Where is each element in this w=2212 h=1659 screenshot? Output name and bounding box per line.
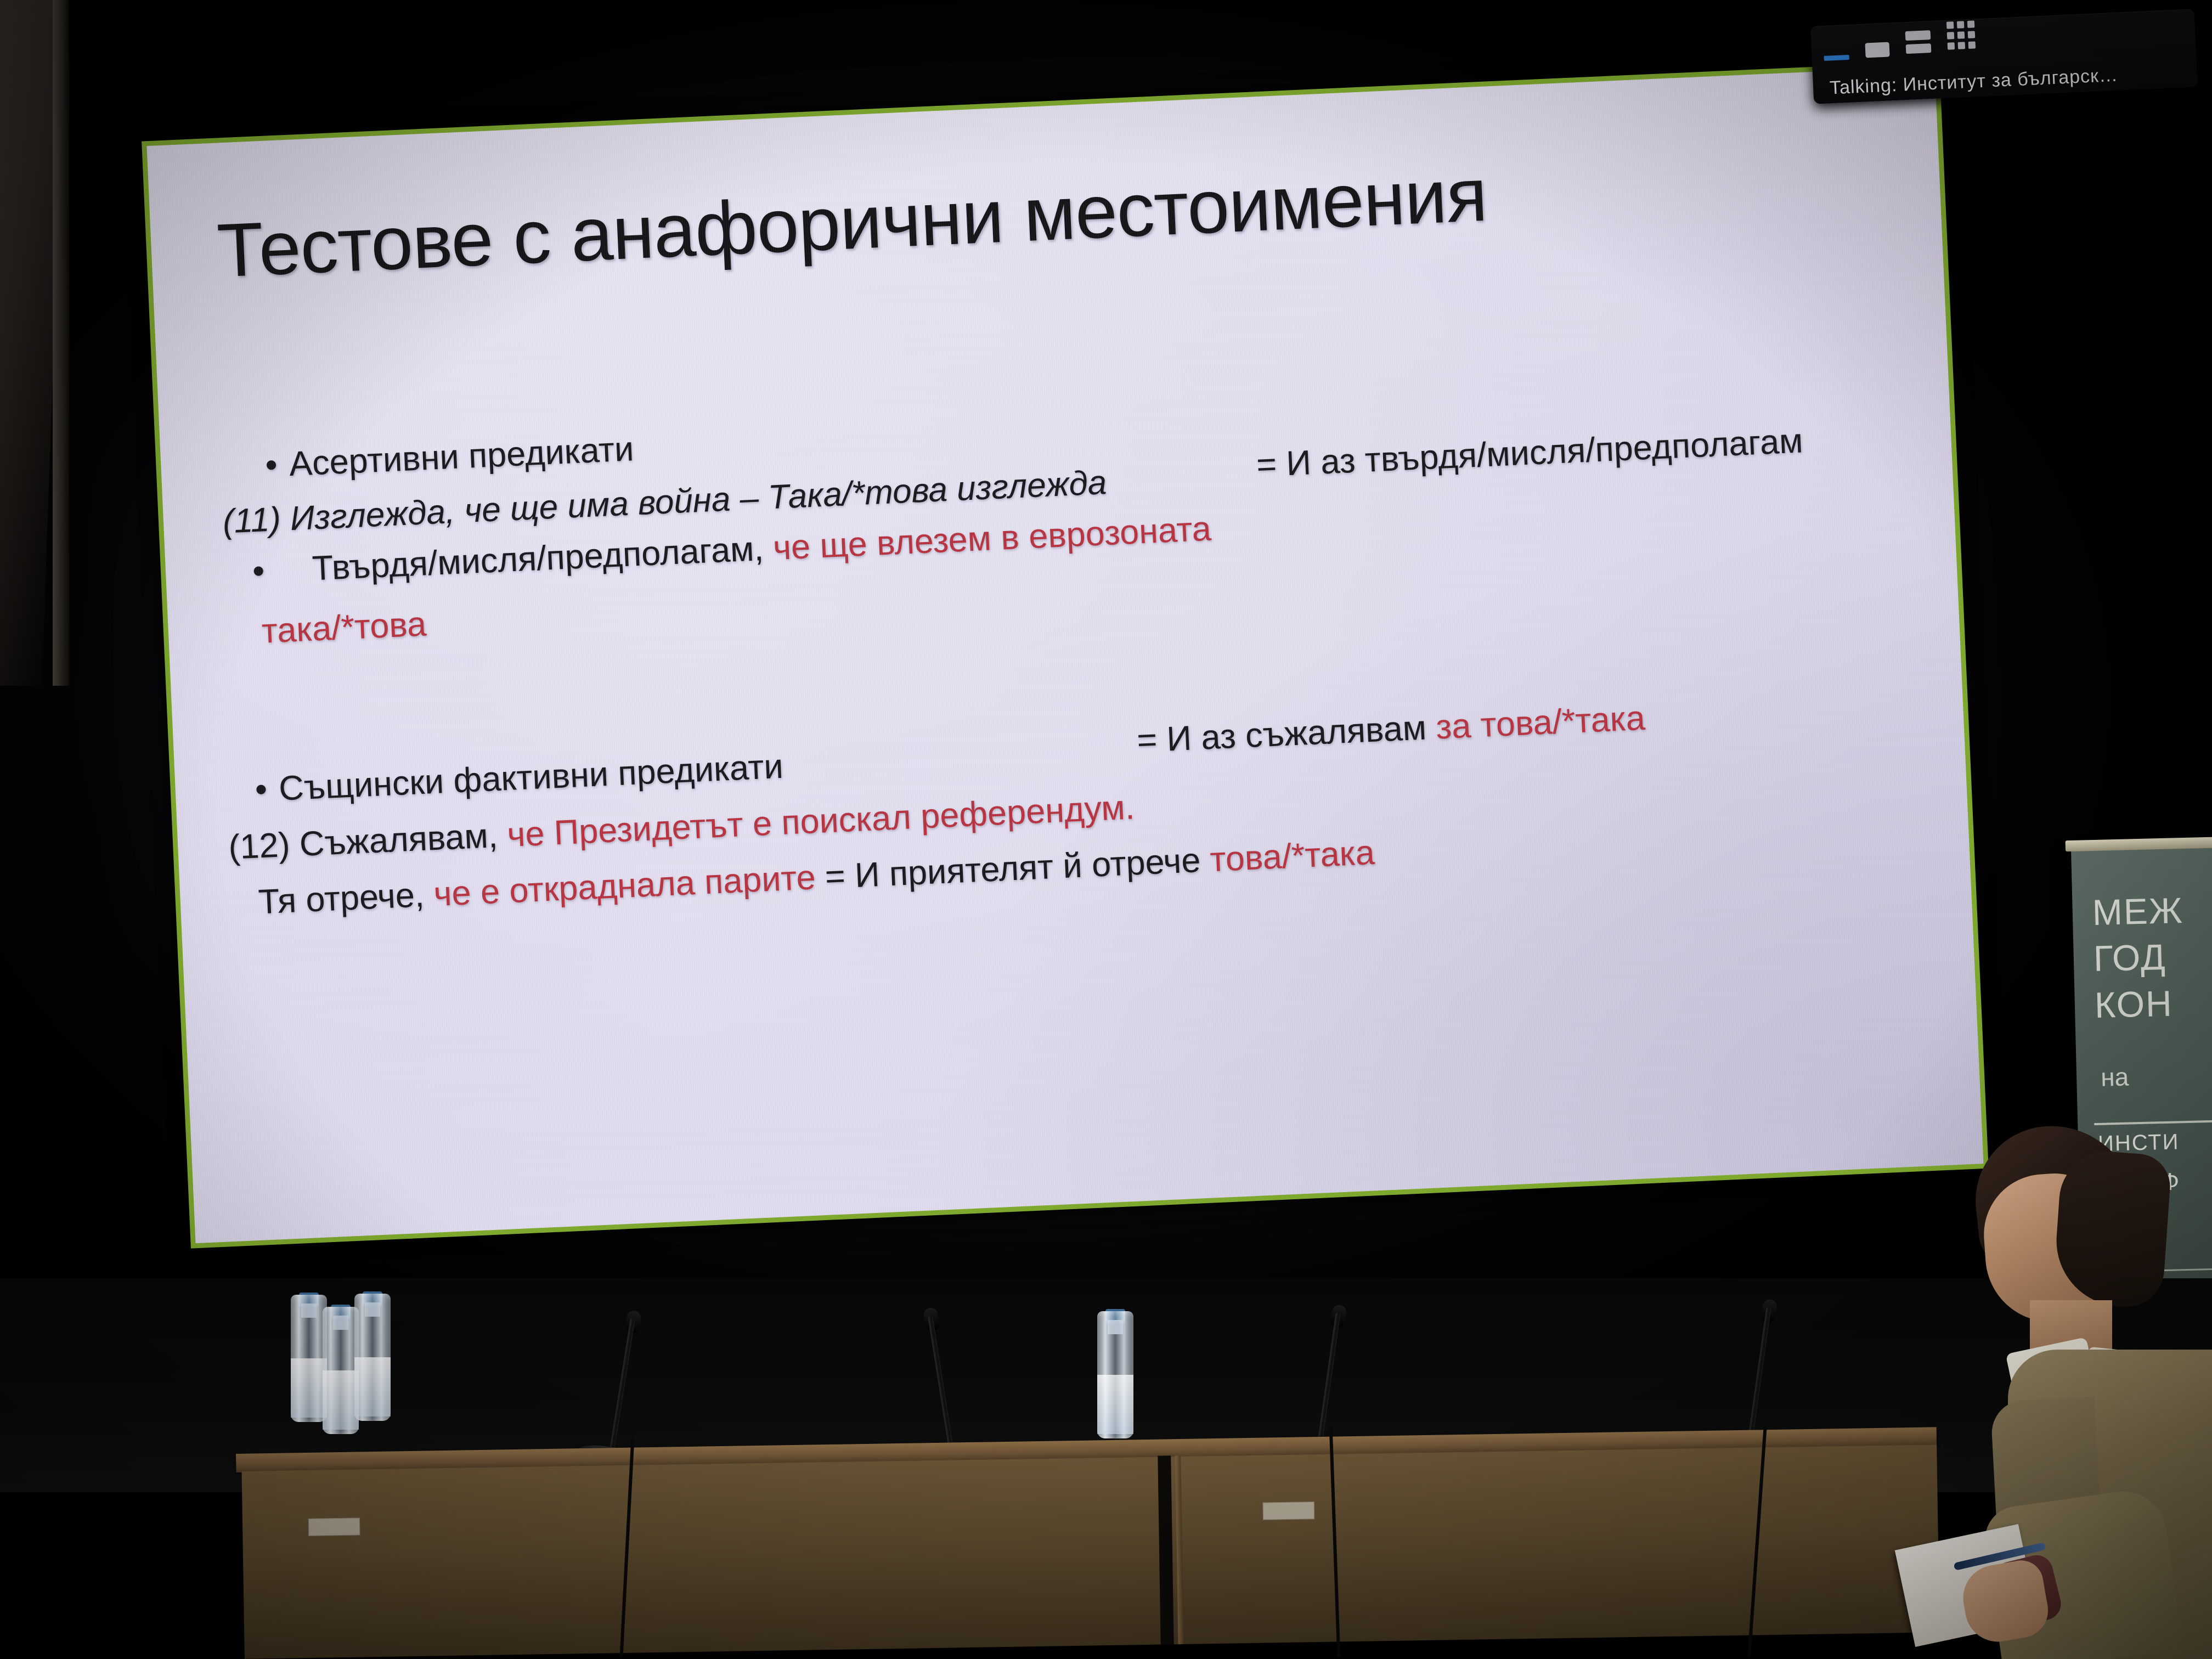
projection-screen: Тестове с анафорични местоимения • Асерт… [0, 0, 1981, 1338]
table-nameplate [1263, 1502, 1314, 1520]
seg-i-regret: (12) Съжалявам, [228, 816, 508, 867]
gallery-view-icon[interactable] [1946, 20, 1976, 49]
bullet-dot-icon: • [255, 772, 270, 807]
seg-za-tova-taka: за това/*така [1435, 699, 1646, 747]
seg-she-denied: Тя отрече, [257, 875, 435, 921]
banner-line-4: на [2101, 1062, 2129, 1092]
banner-line-2: ГОД [2093, 933, 2212, 982]
seg-taka-tova-1: така/*това [261, 607, 427, 648]
slide-surface: Тестове с анафорични местоимения • Асерт… [146, 66, 1983, 1243]
seg-and-i-regret: = И аз съжалявам [1136, 708, 1437, 760]
banner-line-3: КОН [2094, 979, 2212, 1028]
bottle-label [323, 1370, 359, 1430]
seg-stole-the-money: че е откраднала парите [433, 858, 816, 913]
side-by-side-view-icon[interactable] [1905, 30, 1932, 54]
bottle-label [354, 1357, 391, 1417]
bullet-dot-icon: • [252, 554, 268, 589]
panel-table [236, 1427, 1939, 1659]
example-11-equals-clause: = И аз твърдя/мисля/предполагам [1256, 424, 1804, 482]
bullet-true-factive-predicates: • Същински фактивни предикати [255, 749, 784, 808]
speaker-view-icon[interactable] [1865, 42, 1889, 58]
seg-and-i-claim: = И аз твърдя/мисля/предполагам [1256, 421, 1804, 484]
presentation-photo-scene: Тестове с анафорични местоимения • Асерт… [0, 0, 2212, 1659]
seg-claim-think-assume: Твърдя/мисля/предполагам, [312, 529, 774, 588]
bottle-label [1097, 1375, 1133, 1434]
seg-taka-tova-1-text: така/*това [261, 605, 427, 650]
active-indicator-icon [1824, 55, 1849, 61]
seg-president-referendum: че Президетът е поискал референдум. [506, 788, 1136, 854]
speaker-person [1915, 1114, 2212, 1659]
bullet-label: Същински фактивни предикати [278, 747, 784, 808]
seg-enter-eurozone: че ще влезем в еврозоната [772, 510, 1212, 567]
seg-tova-taka: това/*така [1209, 833, 1375, 879]
banner-headline: МЕЖ ГОД КОН [2092, 886, 2212, 1028]
bullet-assertive-predicates: • Асертивни предикати [264, 432, 634, 483]
example-12-equals-clause: = И аз съжалявам за това/*така [1136, 701, 1646, 758]
bullet-label: Асертивни предикати [289, 430, 635, 483]
water-bottle [1097, 1311, 1133, 1459]
seg-and-friend-denied: = И приятелят й отрече [815, 840, 1211, 896]
bullet-dot-icon: • [264, 448, 280, 483]
table-nameplate [308, 1517, 360, 1536]
zoom-view-icons [1822, 24, 1976, 63]
bottle-label [291, 1358, 327, 1418]
water-bottle [323, 1307, 359, 1455]
water-bottle [291, 1295, 327, 1443]
slide-body: • Асертивни предикати (11) Изглежда, че … [146, 66, 1983, 1243]
water-bottle [354, 1294, 391, 1442]
table-front-panel [242, 1444, 1940, 1658]
banner-line-1: МЕЖ [2092, 886, 2212, 935]
